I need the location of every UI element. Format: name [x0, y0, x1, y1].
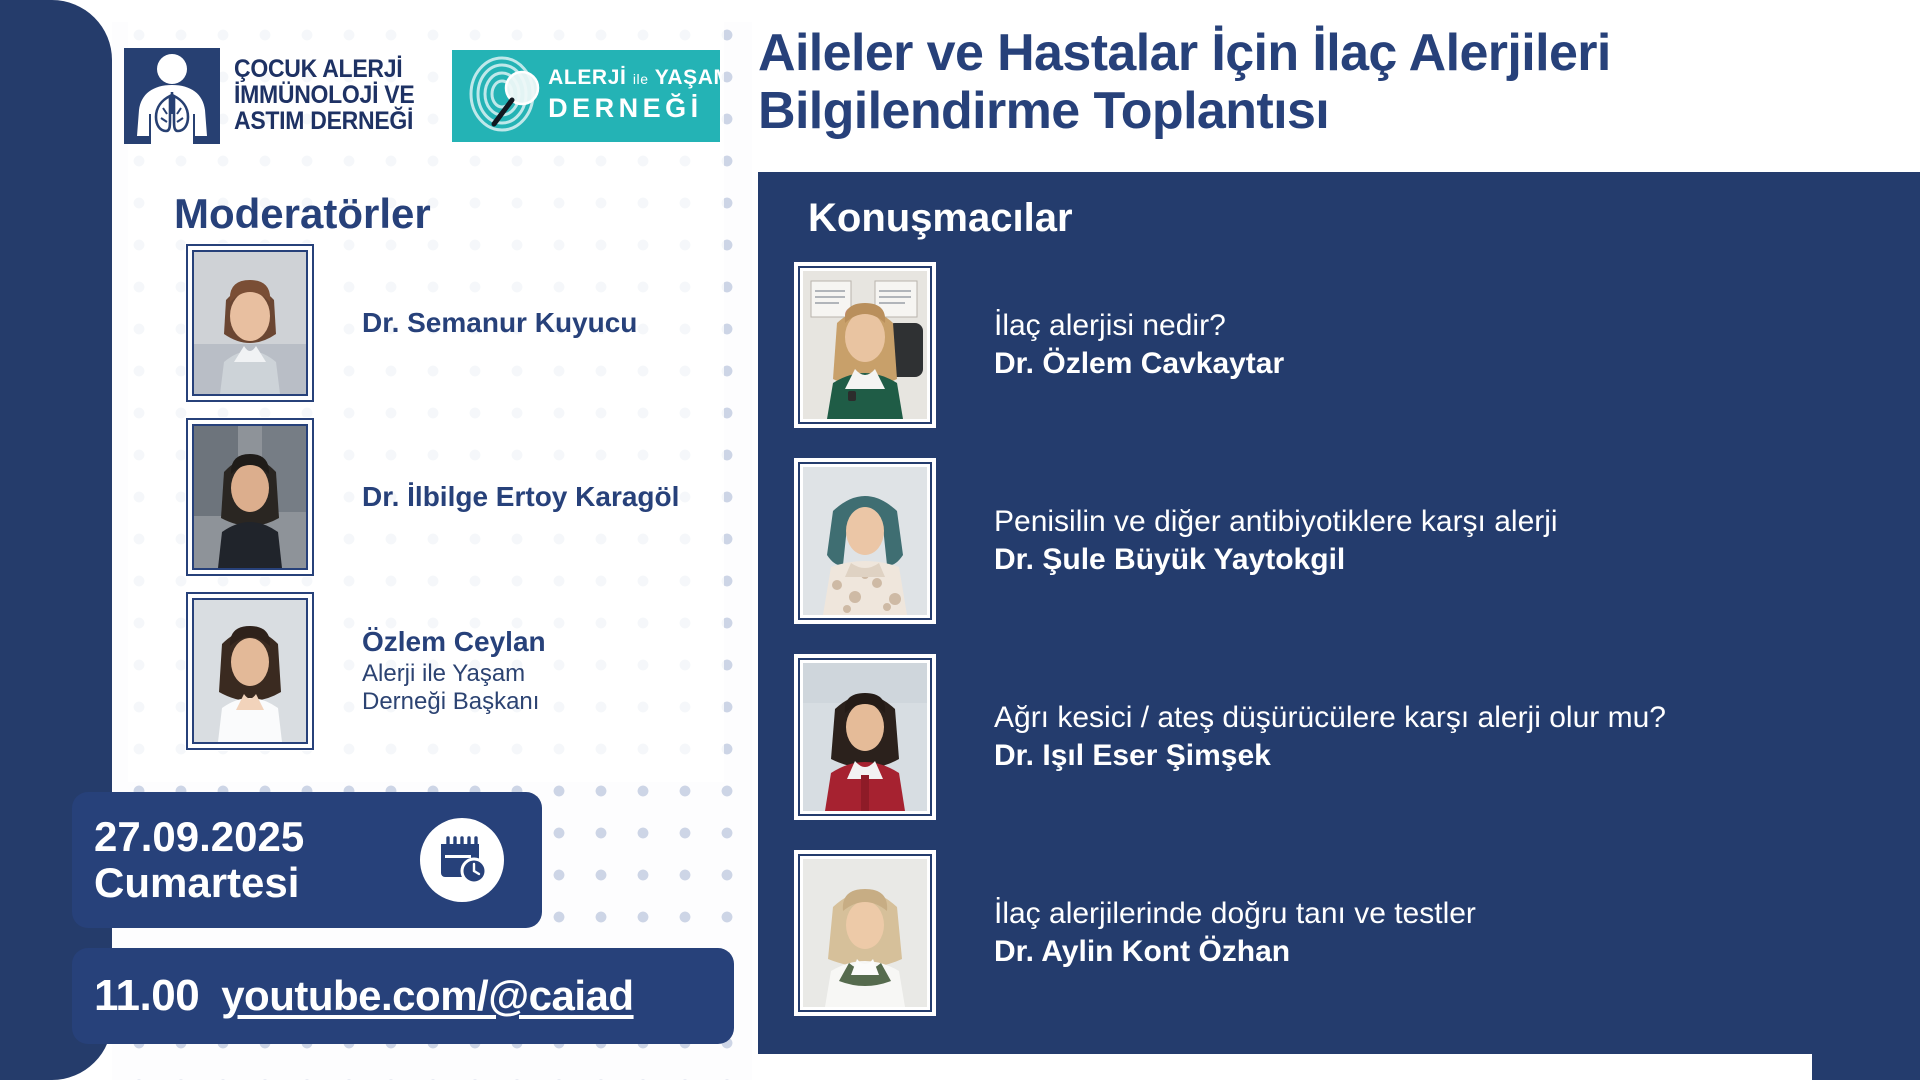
speaker-photo-isil-eser-simsek: [803, 663, 927, 811]
logo-caiad: ÇOCUK ALERJİ İMMÜNOLOJİ VE ASTIM DERNEĞİ: [124, 48, 430, 144]
event-time: 11.00: [94, 971, 199, 1021]
speaker-photo-ozlem-cavkaytar: [803, 271, 927, 419]
moderator-name: Dr. Semanur Kuyucu: [362, 307, 637, 339]
event-date-text: 27.09.2025 Cumartesi: [94, 814, 304, 906]
logo-row: ÇOCUK ALERJİ İMMÜNOLOJİ VE ASTIM DERNEĞİ…: [124, 48, 720, 144]
moderator-photo-ilbilge-ertoy-karagol: [194, 426, 306, 568]
logo-alerji-line1-small: ile: [633, 71, 649, 87]
moderator-photo-ozlem-ceylan: [194, 600, 306, 742]
speaker-item: Ağrı kesici / ateş düşürücülere karşı al…: [794, 654, 1894, 820]
speaker-item: Penisilin ve diğer antibiyotiklere karşı…: [794, 458, 1894, 624]
speaker-photo-frame: [794, 654, 936, 820]
speaker-topic: İlaç alerjisi nedir?: [994, 307, 1284, 345]
logo-caiad-text: ÇOCUK ALERJİ İMMÜNOLOJİ VE ASTIM DERNEĞİ: [234, 57, 414, 134]
moderator-photo-frame: [186, 244, 314, 402]
page-title: Aileler ve Hastalar İçin İlaç Alerjileri…: [758, 24, 1908, 140]
logo-alerji-line2: DERNEĞİ: [548, 93, 720, 124]
speaker-photo-aylin-kont-ozhan: [803, 859, 927, 1007]
moderator-name: Özlem Ceylan: [362, 626, 546, 658]
moderator-photo-frame: [186, 418, 314, 576]
speaker-photo-sule-buyuk-yaytokgil: [803, 467, 927, 615]
event-link-pill[interactable]: 11.00 youtube.com/@caiad: [72, 948, 734, 1044]
lungs-person-icon: [124, 48, 220, 144]
event-date-pill: 27.09.2025 Cumartesi: [72, 792, 542, 928]
event-day: Cumartesi: [94, 860, 304, 906]
speakers-heading: Konuşmacılar: [808, 196, 1073, 241]
moderators-heading: Moderatörler: [174, 190, 431, 238]
youtube-link[interactable]: youtube.com/@caiad: [221, 972, 633, 1020]
moderator-photo-semanur-kuyucu: [194, 252, 306, 394]
moderator-item: Dr. Semanur Kuyucu: [186, 243, 726, 403]
speaker-item: İlaç alerjisi nedir? Dr. Özlem Cavkaytar: [794, 262, 1894, 428]
moderator-item: Özlem Ceylan Alerji ile Yaşam Derneği Ba…: [186, 591, 726, 751]
speaker-topic: Penisilin ve diğer antibiyotiklere karşı…: [994, 503, 1558, 541]
speaker-name: Dr. Aylin Kont Özhan: [994, 933, 1476, 971]
speaker-name: Dr. Işıl Eser Şimşek: [994, 737, 1666, 775]
speaker-name: Dr. Özlem Cavkaytar: [994, 345, 1284, 383]
poster-root: ÇOCUK ALERJİ İMMÜNOLOJİ VE ASTIM DERNEĞİ…: [0, 0, 1920, 1080]
speaker-photo-frame: [794, 458, 936, 624]
logo-alerji-line1-main: ALERJİ: [548, 66, 626, 89]
speaker-photo-frame: [794, 262, 936, 428]
speaker-item: İlaç alerjilerinde doğru tanı ve testler…: [794, 850, 1894, 1016]
logo-alerji-line1-end: YAŞAM: [655, 66, 720, 89]
speaker-topic: Ağrı kesici / ateş düşürücülere karşı al…: [994, 699, 1666, 737]
moderator-name: Dr. İlbilge Ertoy Karagöl: [362, 481, 679, 513]
speaker-photo-frame: [794, 850, 936, 1016]
speaker-topic: İlaç alerjilerinde doğru tanı ve testler: [994, 895, 1476, 933]
speaker-name: Dr. Şule Büyük Yaytokgil: [994, 541, 1558, 579]
speakers-list: İlaç alerjisi nedir? Dr. Özlem Cavkaytar: [794, 262, 1894, 1046]
moderator-subtitle: Alerji ile Yaşam Derneği Başkanı: [362, 660, 546, 716]
logo-alerji-text: ALERJİ ile YAŞAM DERNEĞİ: [548, 66, 720, 124]
moderators-list: Dr. Semanur Kuyucu Dr.: [186, 243, 726, 765]
fingerprint-magnifier-icon: [460, 54, 556, 140]
moderator-photo-frame: [186, 592, 314, 750]
event-date: 27.09.2025: [94, 814, 304, 860]
moderator-item: Dr. İlbilge Ertoy Karagöl: [186, 417, 726, 577]
logo-alerji-ile-yasam: ALERJİ ile YAŞAM DERNEĞİ: [452, 50, 720, 142]
calendar-clock-icon: [420, 818, 504, 902]
